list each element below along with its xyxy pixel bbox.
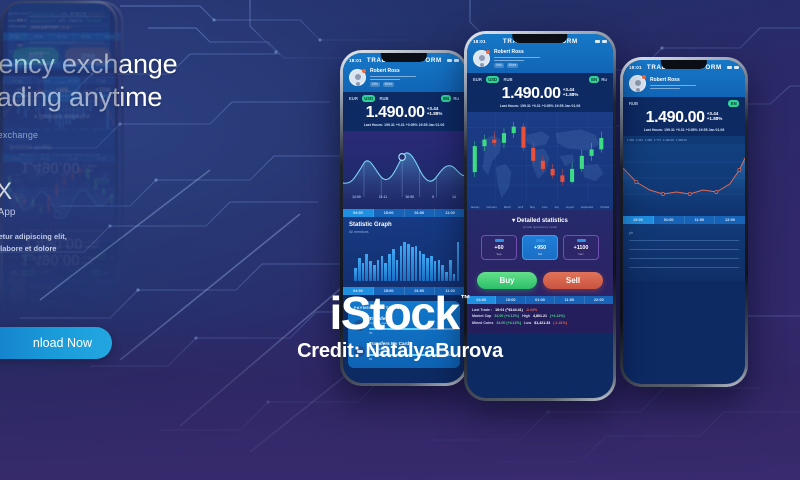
bar-6 [377, 260, 380, 281]
bar-4 [369, 261, 372, 280]
delta-pct-right: +1.88% [707, 116, 723, 122]
user-row[interactable]: Robert Ross Info More [349, 68, 459, 87]
candle-1 [482, 140, 486, 147]
bar-12 [400, 246, 403, 281]
lang-ru-center[interactable]: Ru [601, 77, 607, 82]
delta-pct-center: +1.88% [563, 92, 579, 98]
bar-20 [430, 256, 433, 281]
last-hours-center: Last Hours: 199.31 +0.31 +0.05% 19:55 Ja… [473, 104, 607, 108]
setting-sub-transfers: Limit per operation [369, 321, 454, 325]
currency-selector[interactable]: EUR USD RUB EN Ru [343, 92, 465, 102]
quote-tab-1[interactable]: 1.221 [636, 138, 643, 142]
statistic-graph-panel: Statistic Graph All mentions [343, 217, 465, 287]
bar-10 [392, 249, 395, 281]
bar-27 [457, 242, 460, 281]
user-name-center: Robert Ross [494, 49, 540, 55]
poster-stage: urrency exchange , trading anytime ons f… [0, 0, 800, 480]
promo-uiux-subtitle: Mobile App [0, 207, 266, 218]
rtime-2[interactable]: 11:00 [685, 216, 716, 224]
setting-label-my-card: Transfers My Card [369, 341, 454, 346]
currency-usd-center[interactable]: USD [486, 76, 500, 83]
time-axis-right[interactable]: 15:00 01:00 11:00 22:00 [623, 216, 745, 224]
download-now-button[interactable]: nload Now [0, 327, 112, 359]
month-9: October [600, 206, 609, 209]
time-axis-top[interactable]: 04:00 15:00 01:00 11:00 [343, 209, 465, 217]
candle-3 [502, 133, 506, 143]
time-tick-3[interactable]: 11:00 [435, 209, 465, 217]
candle-10 [570, 169, 574, 182]
signal-icon-center [595, 40, 600, 43]
slider-my-card[interactable] [369, 354, 454, 356]
price-delta: +3.44 +1.88% [427, 106, 443, 117]
candle-9 [560, 175, 564, 182]
currency-selector-right[interactable]: RUB EN [623, 97, 745, 107]
phone-center-screen[interactable]: 18:01 TRADING PLATFORM Robert Ross Info … [467, 34, 613, 398]
market-data-table: Last Trade : 19:01 (^$144.41) -0.44% Mar… [467, 304, 613, 334]
detailed-statistics-subtitle: Growth dynamics by month [467, 225, 613, 229]
chip-info-center[interactable]: Info [494, 63, 504, 68]
user-placeholder-bars [370, 76, 416, 80]
lang-en-right[interactable]: EN [728, 100, 739, 107]
promo-subcopy: ons for exchange [0, 130, 266, 140]
setting-row-transfers-my-card[interactable]: Transfers My Card Daily card limit 82 [354, 341, 454, 361]
setting-value-transfers: 70 [369, 331, 454, 335]
price-value-right: 1.490.00 [646, 110, 705, 126]
candle-0 [473, 146, 477, 172]
card-icon [354, 320, 365, 331]
language-switch-center[interactable]: EN Ru [589, 76, 607, 83]
candle-13 [599, 138, 603, 149]
currency-rub-right[interactable]: RUB [629, 101, 638, 106]
row2-change2: (-1.41%) [553, 321, 567, 325]
stat-card-value-sep: +60 [484, 245, 514, 251]
bar-24 [445, 272, 448, 281]
right-quote-tabs[interactable]: 1.390 1.221 1.590 1.771 1.240.00 1.300.0… [623, 136, 745, 144]
ctime-0[interactable]: 04:00 [467, 296, 496, 304]
quote-tab-2[interactable]: 1.590 [645, 138, 652, 142]
candle-8 [551, 169, 555, 176]
row1-change2: (+4.12%) [550, 314, 565, 318]
signal-icon-right [727, 66, 732, 69]
bar-15 [411, 247, 414, 280]
bar-16 [415, 246, 418, 281]
payment-settings-card: PAYMENT SETTINGS Transfers Limit per ope… [348, 301, 460, 369]
month-8: September [581, 206, 594, 209]
status-time-center: 18:01 [473, 39, 486, 44]
candles [467, 112, 613, 206]
candle-month-labels: January February March April May June Ju… [467, 206, 613, 209]
buy-button[interactable]: Buy [477, 272, 537, 289]
stat-card-value-nov: +1100 [566, 245, 596, 251]
area-time-1: 11:11 [379, 195, 387, 199]
setting-sub-my-card: Daily card limit [369, 347, 454, 351]
price-block-center: 1.490.00 +3.44 +1.88% Last Hours: 199.31… [467, 83, 613, 113]
promo-uiux-title: I/UX [0, 178, 266, 206]
row1-key2: High [522, 314, 530, 318]
row2-value2: $1,421.33 [534, 321, 550, 325]
time-tick-2[interactable]: 01:00 [405, 209, 436, 217]
candle-11 [580, 156, 584, 169]
payment-settings-header: PAYMENT SETTINGS [354, 306, 454, 310]
area-time-3: 0 [432, 195, 434, 199]
bar-0 [354, 268, 357, 280]
month-0: January [470, 206, 479, 209]
bar-22 [438, 260, 441, 281]
promo-headline: urrency exchange , trading anytime [0, 48, 266, 114]
stat-cards: +60 Sep +950 Oct +1100 Nov [467, 235, 613, 260]
bar-13 [403, 242, 406, 281]
time-tick-1[interactable]: 15:00 [374, 209, 405, 217]
month-5: June [542, 206, 548, 209]
row1-value2: 4,801.21 [533, 314, 547, 318]
language-switch-right[interactable]: EN [728, 100, 739, 107]
slider-transfers[interactable] [369, 328, 454, 330]
status-icons-right [727, 66, 739, 69]
promo-lorem: , consectetur adipiscing elit, didunt ut… [0, 231, 266, 254]
avatar-right [629, 75, 646, 92]
right-panel-lines [629, 240, 739, 269]
user-block: Robert Ross Info More [370, 68, 416, 87]
area-time-4: 14 [452, 195, 456, 199]
row2-key: Mined Coins [472, 321, 493, 325]
sell-button[interactable]: Sell [543, 272, 603, 289]
notification-dot [362, 69, 366, 73]
lang-en[interactable]: EN [441, 95, 452, 102]
stat-card-sep[interactable]: +60 Sep [481, 235, 517, 260]
status-icons [447, 59, 459, 62]
price-value: 1.490.00 [366, 105, 425, 121]
time2-tick-3[interactable]: 11:00 [435, 287, 465, 295]
candle-12 [590, 149, 594, 156]
stat-card-nov[interactable]: +1100 Nov [563, 235, 599, 260]
statistic-graph-subtitle: All mentions [349, 230, 459, 234]
rtime-1[interactable]: 01:00 [654, 216, 685, 224]
bar-5 [373, 265, 376, 281]
row1-key: Market Cap [472, 314, 491, 318]
ctime-2[interactable]: 01:00 [526, 296, 555, 304]
month-3: April [518, 206, 523, 209]
promo-headline-line2: , trading anytime [0, 81, 266, 114]
bar-8 [384, 263, 387, 281]
lang-ru[interactable]: Ru [453, 96, 459, 101]
currency-rub[interactable]: RUB [379, 96, 388, 101]
right-bottom-panel: ph [623, 224, 745, 281]
trade-actions: Buy Sell [467, 264, 613, 296]
table-row: Market Cap 34.00 (+4.12%) High 4,801.21 … [472, 314, 608, 318]
bar-21 [434, 261, 437, 280]
time-axis-center[interactable]: 04:00 15:00 01:00 11:00 22:00 [467, 296, 613, 304]
ctime-4[interactable]: 22:00 [585, 296, 613, 304]
notch [381, 53, 427, 62]
chip-info[interactable]: Info [370, 82, 380, 87]
user-name: Robert Ross [370, 68, 416, 74]
bar-14 [407, 244, 410, 281]
battery-icon-center [602, 40, 607, 43]
month-7: August [566, 206, 574, 209]
rtime-3[interactable]: 22:00 [715, 216, 745, 224]
table-row: Last Trade : 19:01 (^$144.41) -0.44% [472, 308, 608, 312]
bar-18 [422, 254, 425, 280]
detailed-statistics-title: ▾ Detailed statistics [467, 217, 613, 224]
setting-value-my-card: 82 [369, 357, 454, 361]
promo-lorem-line1: , consectetur adipiscing elit, [0, 231, 266, 243]
table-row: Mined Coins 34.00 (+4.12%) Low $1,421.33… [472, 321, 608, 325]
row1-value: 34.00 (+4.12%) [494, 314, 519, 318]
price-block: 1.490.00 +3.44 +1.88% Last Hours: 199.31… [343, 102, 465, 132]
time-tick-0[interactable]: 04:00 [343, 209, 374, 217]
area-time-2: 16:50 [405, 195, 414, 199]
bar-7 [381, 256, 384, 281]
currency-rub-center[interactable]: RUB [503, 77, 512, 82]
quote-tab-4[interactable]: 1.240.00 [663, 138, 674, 142]
card-tag-icon [495, 239, 504, 242]
phone-right: 18:01 TRADING PLATFORM Robert Ross RUB E… [620, 57, 748, 387]
status-time: 18:01 [349, 58, 362, 63]
phone-center: 18:01 TRADING PLATFORM Robert Ross Info … [464, 31, 616, 401]
avatar-center [473, 50, 490, 67]
promo-headline-line1: urrency exchange [0, 49, 177, 79]
quote-tab-3[interactable]: 1.771 [654, 138, 661, 142]
notification-dot-center [486, 50, 490, 54]
currency-usd[interactable]: USD [362, 95, 376, 102]
candle-4 [512, 127, 516, 134]
bar-11 [396, 260, 399, 281]
time-axis-bottom[interactable]: 04:00 15:00 01:00 11:00 [343, 287, 465, 295]
candlestick-chart[interactable]: January February March April May June Ju… [467, 112, 613, 210]
promo-lorem-line2: didunt ut labore et dolore [0, 243, 266, 255]
bar-19 [426, 258, 429, 281]
card-tag-icon-3 [577, 239, 586, 242]
candle-5 [521, 127, 525, 148]
month-6: July [554, 206, 559, 209]
phone-left: 18:01 TRADING PLATFORM Robert Ross Info … [340, 50, 468, 386]
battery-icon-right [734, 66, 739, 69]
currency-eur-center[interactable]: EUR [473, 77, 482, 82]
row2-key2: Low [524, 321, 531, 325]
price-block-right: 1.490.00 +3.44 +1.88% Last Hours: 199.31… [623, 107, 745, 137]
setting-label-transfers: Transfers [369, 316, 454, 321]
bar-3 [365, 254, 368, 280]
status-icons-center [595, 40, 607, 43]
bar-9 [388, 254, 391, 280]
ctime-3[interactable]: 11:00 [555, 296, 584, 304]
notch-right [661, 60, 707, 69]
card-icon-2 [354, 346, 365, 357]
time2-tick-2[interactable]: 01:00 [405, 287, 436, 295]
battery-icon [454, 59, 459, 62]
candle-2 [492, 140, 496, 143]
stat-card-month-nov: Nov [566, 252, 596, 256]
arrow-down-icon: ▾ [512, 218, 515, 224]
detailed-statistics-section: ▾ Detailed statistics Growth dynamics by… [467, 210, 613, 264]
candle-6 [531, 148, 535, 161]
bar-26 [453, 274, 456, 281]
phone-right-screen[interactable]: 18:01 TRADING PLATFORM Robert Ross RUB E… [623, 60, 745, 384]
user-row-right[interactable]: Robert Ross [629, 75, 739, 92]
user-chips: Info More [370, 82, 416, 87]
row0-key: Last Trade : [472, 308, 492, 312]
language-switch[interactable]: EN Ru [441, 95, 459, 102]
month-4: May [530, 206, 535, 209]
user-row-center[interactable]: Robert Ross Info More [473, 49, 607, 68]
detailed-statistics-label: Detailed statistics [517, 218, 568, 224]
bar-2 [362, 263, 365, 281]
time2-tick-1[interactable]: 15:00 [374, 287, 405, 295]
user-name-right: Robert Ross [650, 77, 696, 83]
stat-card-month-oct: Oct [525, 252, 555, 256]
card-tag-icon-2 [536, 239, 545, 242]
candle-7 [541, 161, 545, 169]
row0-change: -0.44% [526, 308, 537, 312]
month-2: March [504, 206, 511, 209]
signal-icon [447, 59, 452, 62]
lang-en-center[interactable]: EN [589, 76, 600, 83]
quote-tab-5[interactable]: 1.300.00 [676, 138, 687, 142]
currency-selector-center[interactable]: EUR USD RUB EN Ru [467, 73, 613, 83]
statistic-graph-title: Statistic Graph [349, 222, 459, 228]
bar-23 [441, 265, 444, 281]
area-chart[interactable]: 12:00 11:11 16:50 0 14 [343, 131, 465, 209]
row0-value: 19:01 (^$144.41) [495, 308, 523, 312]
last-hours: Last Hours: 199.31 +0.31 +0.05% 19:55 Ja… [349, 123, 459, 127]
time2-tick-0[interactable]: 04:00 [343, 287, 374, 295]
avatar [349, 69, 366, 86]
stat-card-value-oct: +950 [525, 245, 555, 251]
status-time-right: 18:01 [629, 65, 642, 70]
area-time-0: 12:00 [352, 195, 361, 199]
bar-17 [419, 251, 422, 281]
stat-card-month-sep: Sep [484, 252, 514, 256]
stat-card-oct[interactable]: +950 Oct [522, 235, 558, 260]
quote-tab-0[interactable]: 1.390 [627, 138, 634, 142]
chip-more[interactable]: More [383, 82, 395, 87]
promo-copy: urrency exchange , trading anytime ons f… [0, 48, 266, 254]
line-chart[interactable] [623, 144, 745, 216]
setting-row-transfers[interactable]: Transfers Limit per operation 70 [354, 316, 454, 336]
rtime-0[interactable]: 15:00 [623, 216, 654, 224]
last-hours-right: Last Hours: 199.31 +0.31 +0.05% 19:55 Ja… [629, 128, 739, 132]
phone-left-screen[interactable]: 18:01 TRADING PLATFORM Robert Ross Info … [343, 53, 465, 383]
chip-more-center[interactable]: More [507, 63, 519, 68]
bar-1 [358, 258, 361, 281]
currency-eur[interactable]: EUR [349, 96, 358, 101]
right-panel-label: ph [629, 231, 739, 235]
notch-center [512, 34, 567, 43]
statistic-bar-chart[interactable] [349, 239, 459, 281]
bar-25 [449, 260, 452, 281]
delta-pct: +1.88% [427, 111, 443, 117]
month-1: February [487, 206, 497, 209]
price-value-center: 1.490.00 [502, 86, 561, 102]
row2-value: 34.00 (+4.12%) [496, 321, 521, 325]
ctime-1[interactable]: 15:00 [496, 296, 525, 304]
area-chart-times: 12:00 11:11 16:50 0 14 [343, 195, 465, 199]
